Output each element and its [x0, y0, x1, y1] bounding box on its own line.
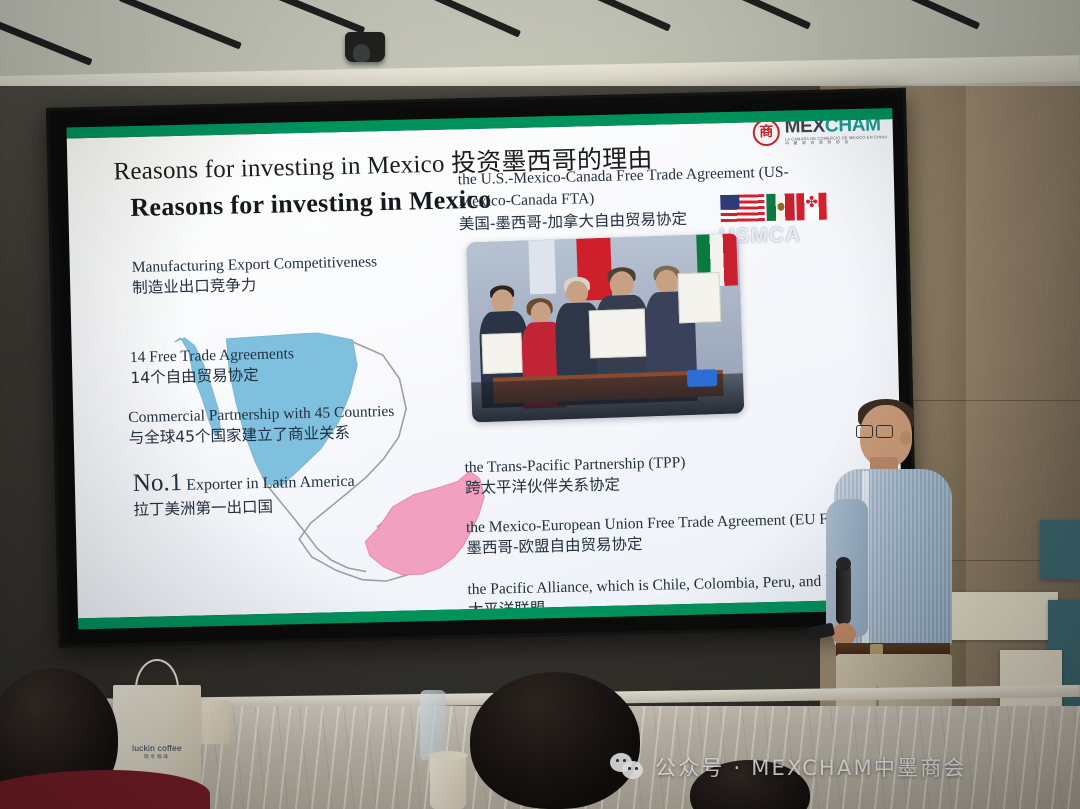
- wechat-dot: [635, 767, 638, 770]
- bullet-fta-en: 14 Free Trade Agreements: [130, 345, 294, 368]
- mexcham-seal-icon: 商: [752, 118, 780, 146]
- bag-brand-text-zh: 瑞幸咖啡: [113, 754, 201, 760]
- bullet-top-exporter-text: Exporter in Latin America: [186, 473, 355, 494]
- paper-cup: [200, 700, 230, 744]
- glasses-icon: [856, 425, 896, 437]
- wechat-bubble-small: [622, 761, 643, 779]
- bullet-manufacturing: Manufacturing Export Competitiveness 制造业…: [132, 253, 378, 298]
- wall-decor-panel-teal: [1040, 520, 1080, 580]
- bullet-top-exporter-en: No.1 Exporter in Latin America: [133, 464, 355, 500]
- wechat-dot: [628, 767, 631, 770]
- presenter-ear: [900, 431, 911, 445]
- paper-cup: [430, 756, 466, 809]
- photo-document: [589, 309, 647, 359]
- watermark-text: 公众号 · MEXCHAM中墨商会: [655, 752, 967, 782]
- mexcham-name-cham: CHAM: [825, 114, 881, 136]
- audience-shoulder: [0, 770, 210, 809]
- slide-title: Reasons for investing in Mexico: [130, 185, 492, 224]
- wechat-dot: [623, 759, 626, 762]
- bullet-tpp: the Trans-Pacific Partnership (TPP) 跨太平洋…: [464, 454, 686, 498]
- mexcham-wordmark: MEXCHAM LA CAMARA DE COMERCIO DE MEXICO …: [784, 115, 887, 145]
- slide-canvas: Reasons for investing in Mexico 投资墨西哥的理由…: [66, 108, 904, 629]
- bag-brand-text: luckin coffee: [132, 743, 182, 753]
- water-bottle: [420, 690, 446, 760]
- photo-phone-screen: [687, 369, 718, 387]
- bullet-free-trade-agreements: 14 Free Trade Agreements 14个自由贸易协定: [130, 345, 295, 388]
- slide-header-en: Reasons for investing in Mexico: [113, 151, 445, 186]
- canada-flag-icon: [796, 193, 827, 221]
- wechat-watermark: 公众号 · MEXCHAM中墨商会: [610, 752, 967, 782]
- bullet-top-exporter: No.1 Exporter in Latin America 拉丁美洲第一出口国: [133, 464, 356, 520]
- bag-brand-label: luckin coffee 瑞幸咖啡: [113, 743, 201, 760]
- mexcham-logo: 商 MEXCHAM LA CAMARA DE COMERCIO DE MEXIC…: [752, 115, 887, 146]
- photo-document: [678, 272, 722, 323]
- mexcham-seal-char: 商: [759, 125, 773, 139]
- presentation-screen: Reasons for investing in Mexico 投资墨西哥的理由…: [46, 88, 918, 648]
- audience-head: [470, 672, 640, 809]
- bullet-fta-zh: 14个自由贸易协定: [130, 364, 294, 388]
- bullet-eu-fta: the Mexico-European Union Free Trade Agr…: [466, 510, 853, 558]
- screenshot-root: Reasons for investing in Mexico 投资墨西哥的理由…: [0, 0, 1080, 809]
- spotlight-fixture: [345, 32, 385, 62]
- wechat-dot: [616, 759, 619, 762]
- screen-inner-bezel: Reasons for investing in Mexico 投资墨西哥的理由…: [56, 98, 914, 644]
- bullet-tpp-zh: 跨太平洋伙伴关系协定: [465, 473, 686, 498]
- wechat-icon: [610, 753, 644, 781]
- mexico-flag-icon: [766, 193, 795, 221]
- bullet-commercial-partnership: Commercial Partnership with 45 Countries…: [128, 403, 395, 448]
- presenter-hand: [832, 623, 856, 645]
- us-flag-icon: [720, 194, 765, 222]
- usmca-signing-photo: [466, 233, 744, 422]
- photo-flag-white: [528, 240, 556, 295]
- bullet-top-exporter-rank: No.1: [133, 469, 183, 497]
- microphone-icon: [836, 563, 851, 625]
- photo-document: [481, 333, 522, 374]
- mexcham-name-mex: MEX: [784, 116, 825, 138]
